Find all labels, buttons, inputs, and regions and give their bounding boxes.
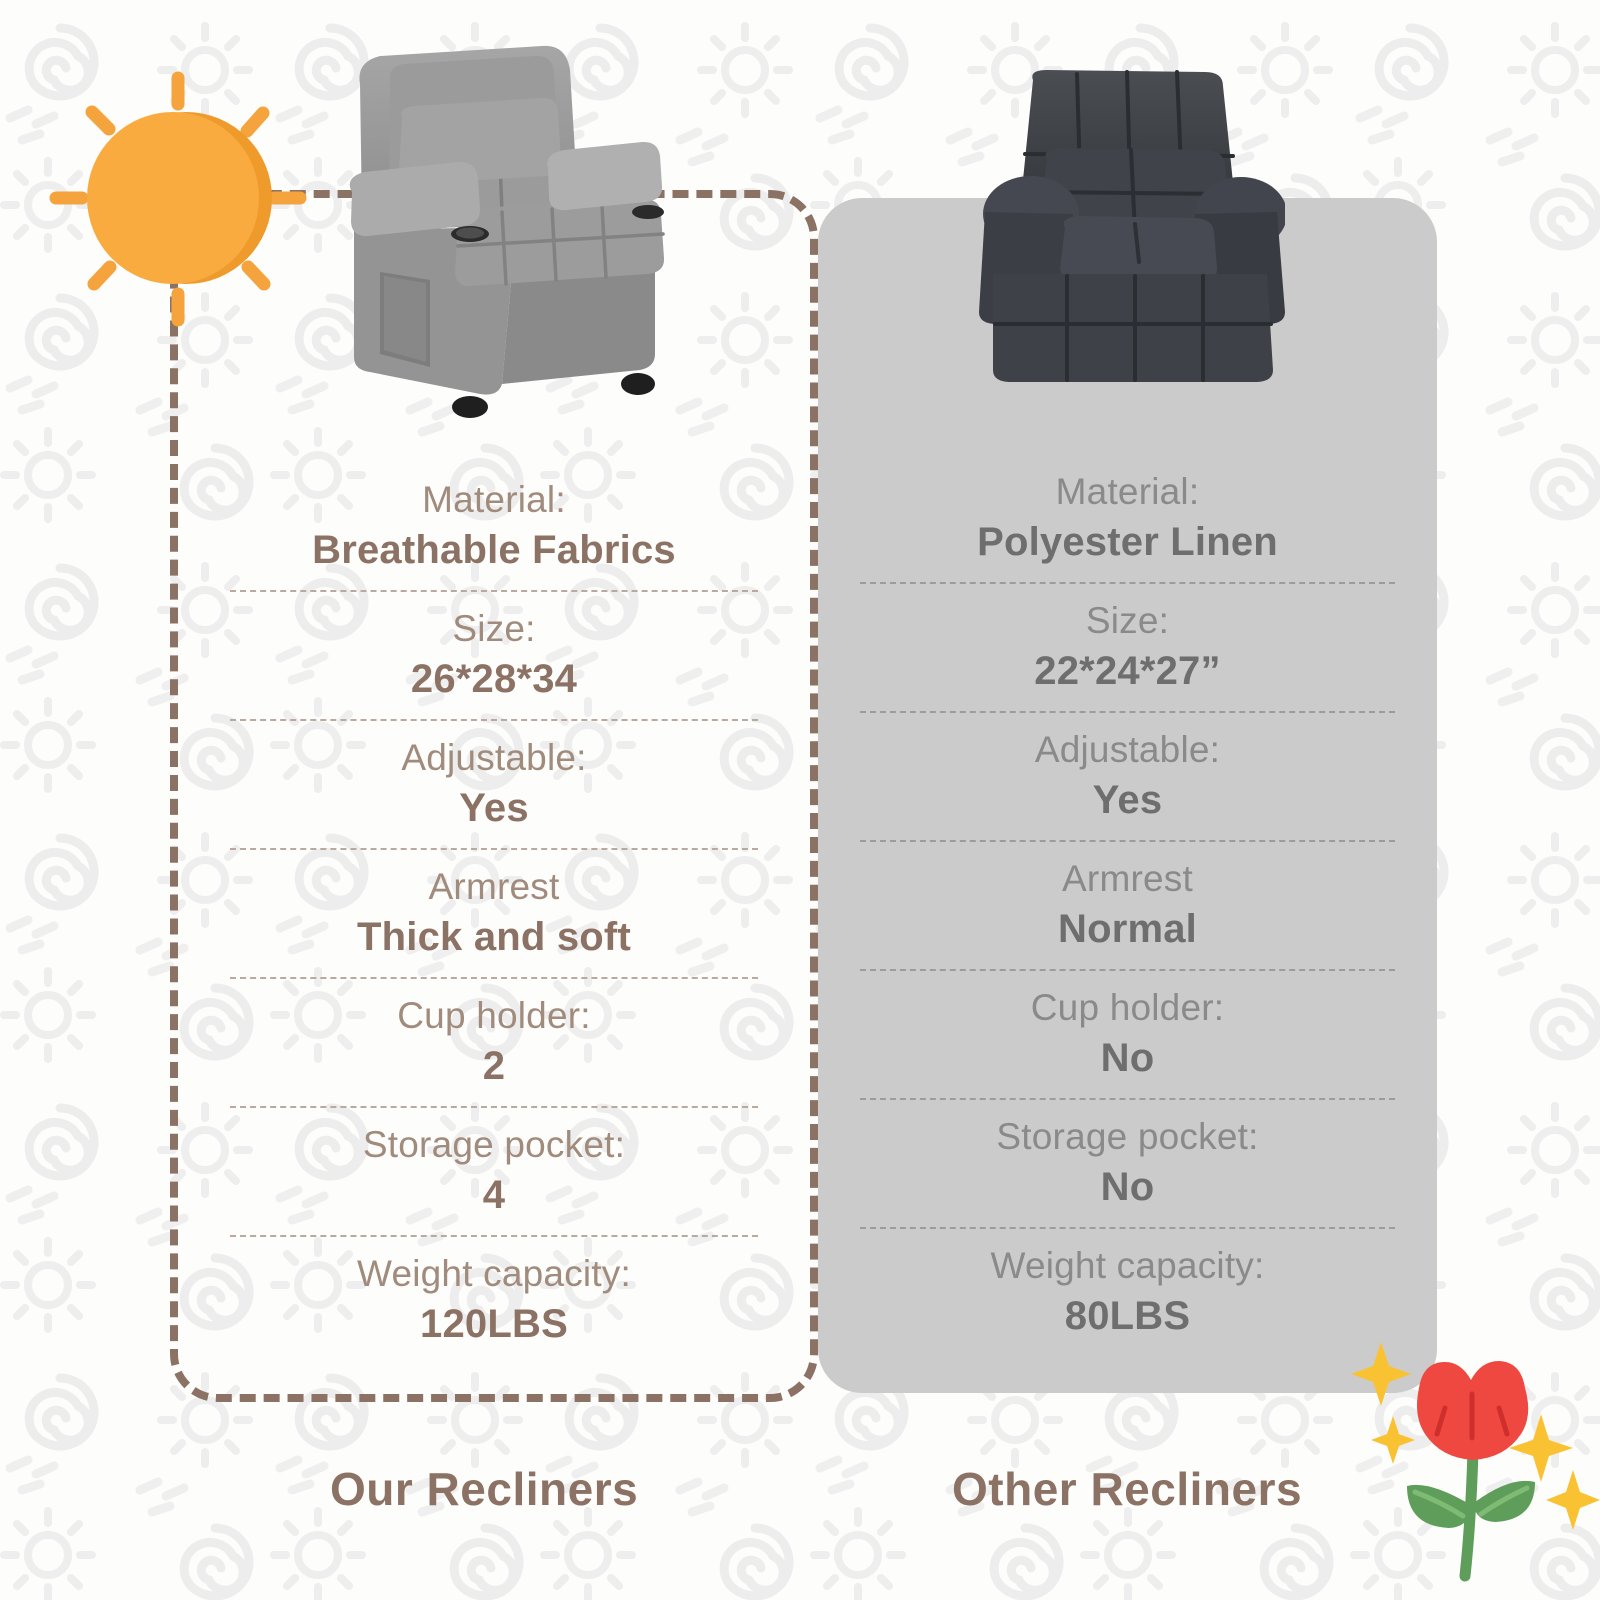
our-spec-label: Cup holder: xyxy=(230,991,758,1040)
our-spec-list: Material:Breathable FabricsSize:26*28*34… xyxy=(178,463,810,1364)
our-spec-value: Yes xyxy=(230,782,758,834)
other-recliner-chair-image xyxy=(955,62,1285,402)
our-spec-label: Adjustable: xyxy=(230,733,758,782)
our-spec-row: Weight capacity:120LBS xyxy=(230,1235,758,1364)
sun-icon xyxy=(28,48,328,348)
other-spec-row: Storage pocket:No xyxy=(860,1098,1395,1227)
our-spec-row: ArmrestThick and soft xyxy=(230,848,758,977)
our-spec-row: Cup holder:2 xyxy=(230,977,758,1106)
our-recliner-chair-image xyxy=(330,22,675,422)
other-recliners-caption: Other Recliners xyxy=(952,1462,1302,1516)
our-spec-label: Storage pocket: xyxy=(230,1120,758,1169)
other-spec-label: Weight capacity: xyxy=(860,1241,1395,1290)
other-spec-value: Yes xyxy=(860,774,1395,826)
other-spec-value: No xyxy=(860,1032,1395,1084)
other-spec-value: No xyxy=(860,1161,1395,1213)
other-spec-value: 22*24*27” xyxy=(860,645,1395,697)
other-spec-label: Size: xyxy=(860,596,1395,645)
our-spec-value: 4 xyxy=(230,1169,758,1221)
our-spec-row: Size:26*28*34 xyxy=(230,590,758,719)
our-spec-label: Weight capacity: xyxy=(230,1249,758,1298)
our-spec-value: Thick and soft xyxy=(230,911,758,963)
our-spec-row: Adjustable:Yes xyxy=(230,719,758,848)
other-spec-row: Weight capacity:80LBS xyxy=(860,1227,1395,1356)
comparison-infographic: Material:Polyester LinenSize:22*24*27”Ad… xyxy=(0,0,1600,1600)
other-spec-value: Polyester Linen xyxy=(860,516,1395,568)
other-spec-list: Material:Polyester LinenSize:22*24*27”Ad… xyxy=(818,455,1437,1356)
our-spec-row: Material:Breathable Fabrics xyxy=(230,463,758,590)
other-spec-row: Adjustable:Yes xyxy=(860,711,1395,840)
other-spec-label: Armrest xyxy=(860,854,1395,903)
our-spec-label: Armrest xyxy=(230,862,758,911)
our-spec-label: Size: xyxy=(230,604,758,653)
other-spec-value: Normal xyxy=(860,903,1395,955)
other-spec-row: Size:22*24*27” xyxy=(860,582,1395,711)
other-spec-row: Material:Polyester Linen xyxy=(860,455,1395,582)
our-recliners-caption: Our Recliners xyxy=(330,1462,638,1516)
other-spec-row: ArmrestNormal xyxy=(860,840,1395,969)
other-spec-label: Adjustable: xyxy=(860,725,1395,774)
other-spec-value: 80LBS xyxy=(860,1290,1395,1342)
our-spec-value: Breathable Fabrics xyxy=(230,524,758,576)
other-spec-label: Cup holder: xyxy=(860,983,1395,1032)
other-spec-label: Storage pocket: xyxy=(860,1112,1395,1161)
our-spec-label: Material: xyxy=(230,475,758,524)
our-spec-row: Storage pocket:4 xyxy=(230,1106,758,1235)
other-spec-label: Material: xyxy=(860,467,1395,516)
flower-icon xyxy=(1345,1330,1600,1600)
our-spec-value: 2 xyxy=(230,1040,758,1092)
other-spec-row: Cup holder:No xyxy=(860,969,1395,1098)
our-spec-value: 120LBS xyxy=(230,1298,758,1350)
our-spec-value: 26*28*34 xyxy=(230,653,758,705)
